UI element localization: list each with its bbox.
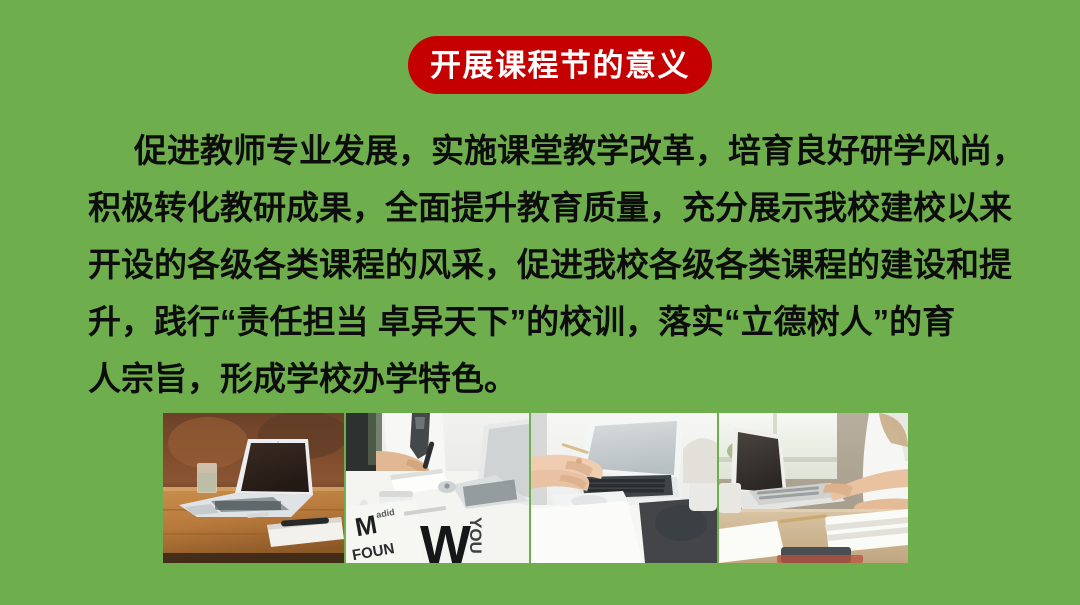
body-paragraph: 促进教师专业发展，实施课堂教学改革，培育良好研学风尚， 积极转化教研成果，全面提… <box>88 122 1006 407</box>
photo-woman-writing-notes: M FOUN adid W YOU <box>346 413 529 563</box>
body-line: 积极转化教研成果，全面提升教育质量，充分展示我校建校以来 <box>88 179 1006 236</box>
svg-text:W: W <box>420 515 471 563</box>
page-title: 开展课程节的意义 <box>430 50 690 81</box>
photo-strip: M FOUN adid W YOU <box>163 413 908 563</box>
photo-laptop-on-wooden-desk <box>163 413 344 563</box>
slide-canvas: 开展课程节的意义 促进教师专业发展，实施课堂教学改革，培育良好研学风尚， 积极转… <box>0 0 1080 605</box>
photo-woman-working-by-window <box>719 413 908 563</box>
body-line: 升，践行“责任担当 卓异天下”的校训，落实“立德树人”的育 <box>88 293 1006 350</box>
svg-text:YOU: YOU <box>466 517 485 554</box>
body-line: 人宗旨，形成学校办学特色。 <box>88 350 1006 407</box>
body-line: 开设的各级各类课程的风采，促进我校各级各类课程的建设和提 <box>88 236 1006 293</box>
body-line: 促进教师专业发展，实施课堂教学改革，培育良好研学风尚， <box>88 122 1006 179</box>
photo-hands-typing-keyboard <box>531 413 717 563</box>
title-banner: 开展课程节的意义 <box>408 36 712 94</box>
